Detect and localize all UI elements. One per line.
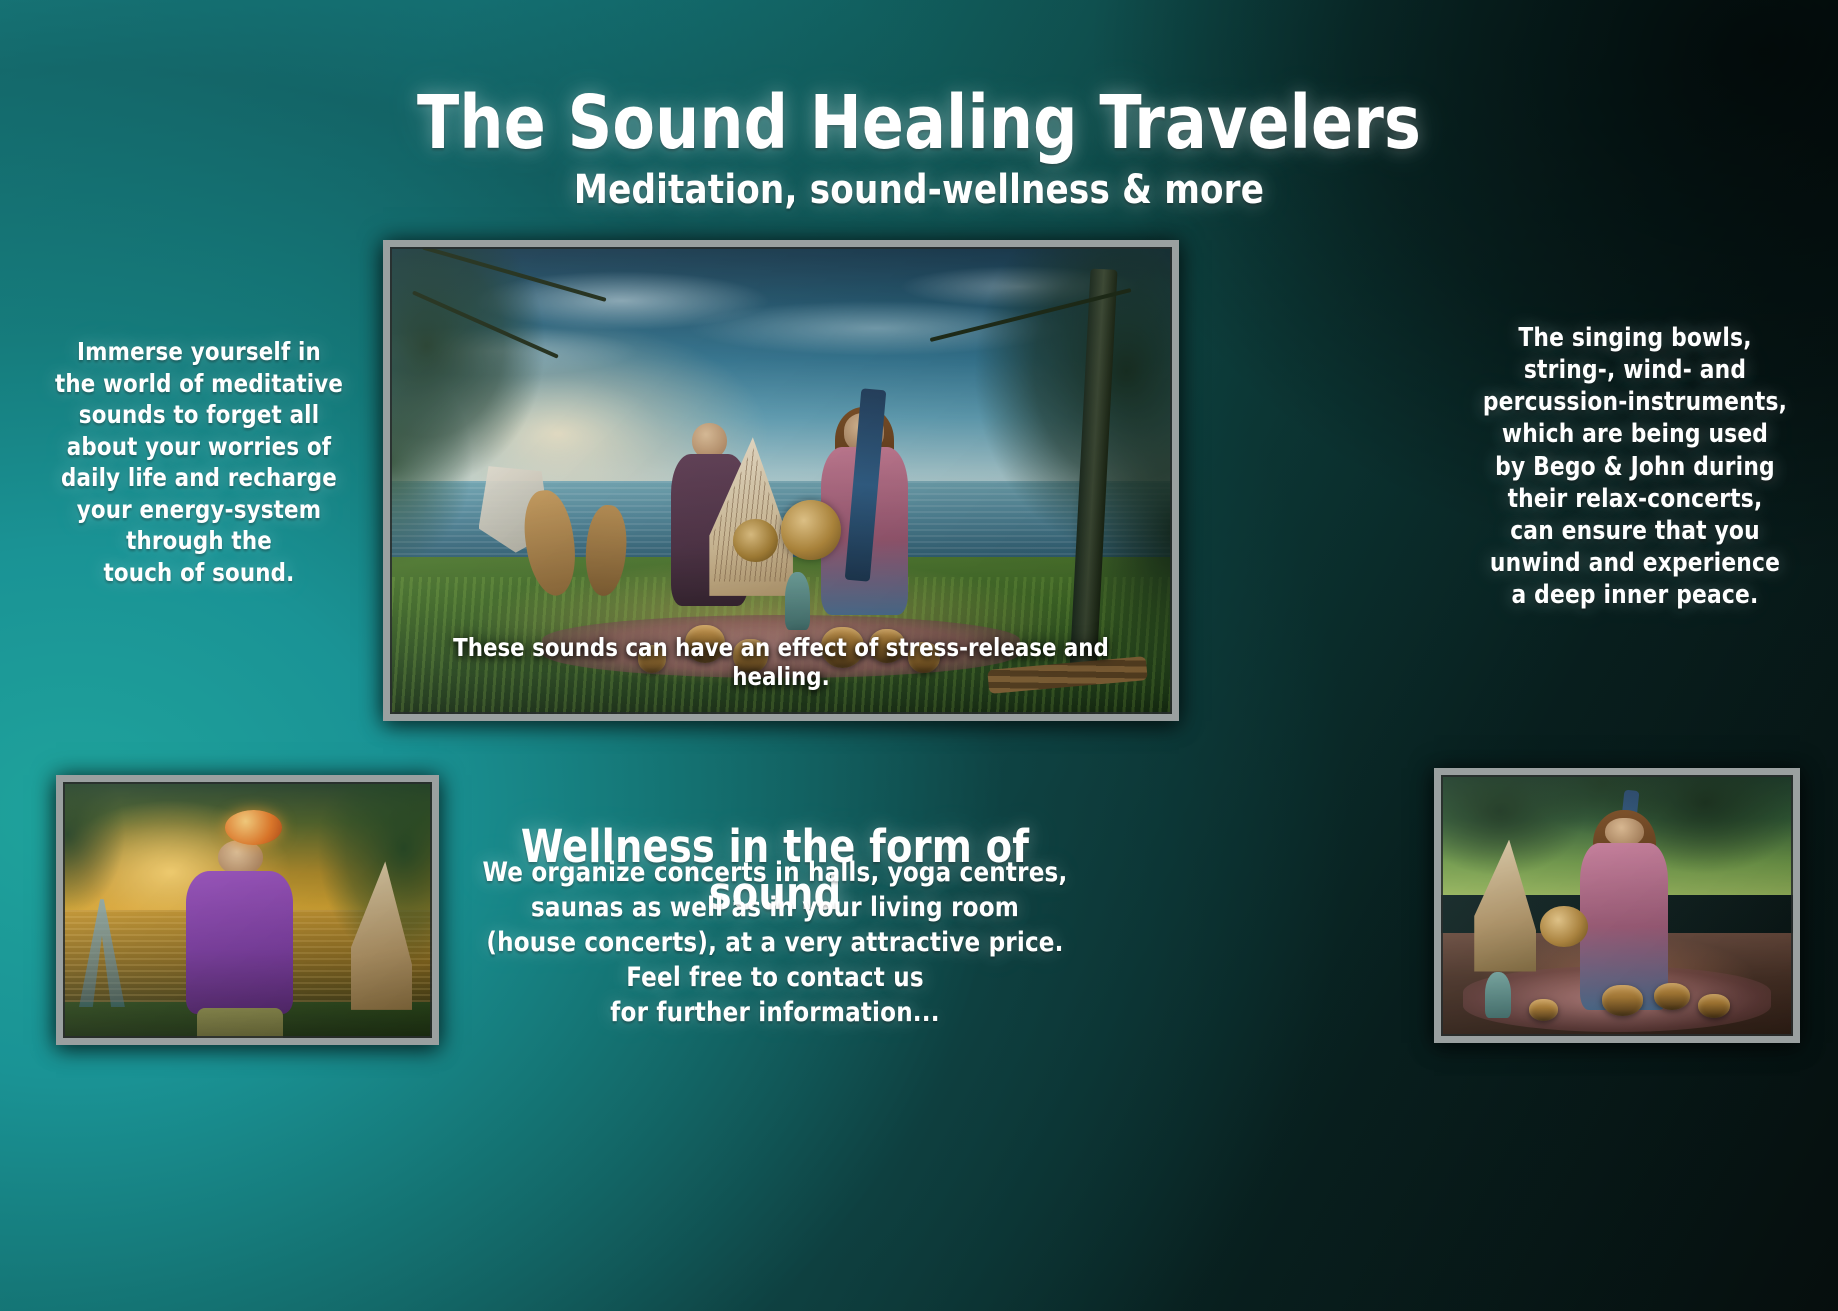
left-line: Immerse yourself in xyxy=(52,336,347,368)
bottom-left-photo xyxy=(56,775,439,1045)
legs xyxy=(197,1008,283,1045)
right-line: unwind and experience xyxy=(1478,547,1792,579)
wellness-line: Feel free to contact us xyxy=(471,960,1079,995)
wellness-line: We organize concerts in halls, yoga cent… xyxy=(471,855,1079,890)
wellness-line: for further information... xyxy=(471,995,1079,1030)
head xyxy=(218,840,263,875)
left-line: touch of sound. xyxy=(52,557,347,589)
wellness-line: saunas as well as in your living room xyxy=(471,890,1079,925)
main-photo: These sounds can have an effect of stres… xyxy=(383,240,1179,721)
right-line: percussion-instruments, xyxy=(1478,386,1792,418)
right-line: string-, wind- and xyxy=(1478,354,1792,386)
left-line: the world of meditative xyxy=(52,368,347,400)
right-line: which are being used xyxy=(1478,418,1792,450)
page-title: The Sound Healing Travelers xyxy=(64,86,1773,160)
left-line: your energy-system xyxy=(52,494,347,526)
left-line: through the xyxy=(52,525,347,557)
buddha-statue xyxy=(1485,972,1511,1019)
gong-small xyxy=(733,519,778,562)
buddha-statue xyxy=(785,572,810,630)
wellness-paragraph: We organize concerts in halls, yoga cent… xyxy=(471,855,1079,1030)
gong xyxy=(1540,906,1588,947)
singing-bowl xyxy=(1654,983,1691,1011)
left-line: daily life and recharge xyxy=(52,462,347,494)
gong xyxy=(781,500,841,560)
right-paragraph: The singing bowls, string-, wind- and pe… xyxy=(1478,322,1792,611)
wellness-line: (house concerts), at a very attractive p… xyxy=(471,925,1079,960)
bottom-right-scene xyxy=(1434,768,1800,1043)
wellness-heading: Wellness in the form of sound xyxy=(471,823,1079,918)
left-paragraph: Immerse yourself in the world of meditat… xyxy=(52,336,347,588)
right-line: by Bego & John during xyxy=(1478,451,1792,483)
left-line: sounds to forget all xyxy=(52,399,347,431)
right-line: a deep inner peace. xyxy=(1478,579,1792,611)
poster-root: These sounds can have an effect of stres… xyxy=(0,0,1838,1311)
singing-bowl-glow xyxy=(225,810,282,845)
left-line: about your worries of xyxy=(52,431,347,463)
singing-bowl xyxy=(1602,985,1642,1015)
main-photo-caption: These sounds can have an effect of stres… xyxy=(403,633,1159,691)
torso xyxy=(186,871,293,1015)
bottom-right-photo xyxy=(1434,768,1800,1043)
right-line: can ensure that you xyxy=(1478,515,1792,547)
musician xyxy=(186,840,293,1045)
bottom-left-scene xyxy=(56,775,439,1045)
musician xyxy=(1580,818,1668,1011)
page-subtitle: Meditation, sound-wellness & more xyxy=(46,169,1792,211)
right-line: The singing bowls, xyxy=(1478,322,1792,354)
right-line: their relax-concerts, xyxy=(1478,483,1792,515)
